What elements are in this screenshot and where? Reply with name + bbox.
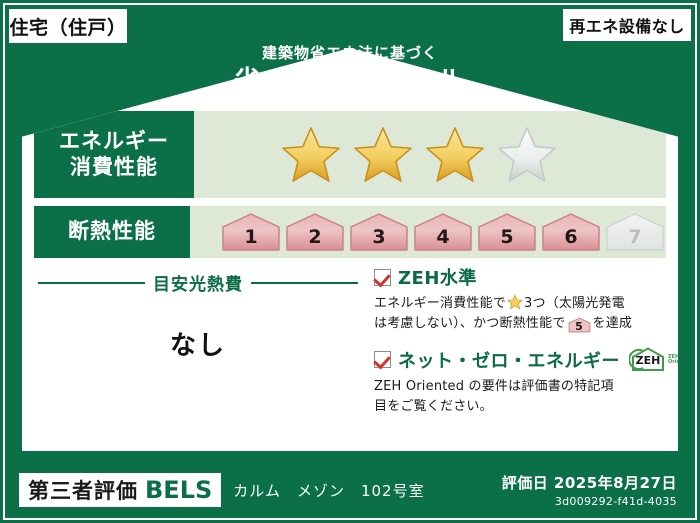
grade-badge-label: 4 — [436, 226, 449, 253]
grade-badge-2: 2 — [284, 211, 346, 253]
grade-badge-1: 1 — [220, 211, 282, 253]
bels-japanese-label: 第三者評価 — [28, 475, 138, 505]
grade-badge-6: 6 — [540, 211, 602, 253]
net-zero-energy-heading: ネット・ゼロ・エネルギー ZEH ZEH Oriented — [374, 346, 662, 373]
estimated-utility-cost-value: なし — [38, 325, 358, 362]
desc-text-1: エネルギー消費性能で — [374, 296, 506, 311]
insulation-performance-row: 断熱性能 1 — [34, 206, 666, 258]
evaluation-id: 3d009292-f41d-4035 — [502, 495, 677, 508]
grade-badge-label: 1 — [244, 226, 257, 253]
building-type-tag: 住宅（住戸） — [9, 9, 127, 43]
energy-label-line1: エネルギー — [59, 129, 169, 155]
energy-label-line2: 消費性能 — [70, 155, 158, 181]
desc-text-4: を達成 — [593, 316, 633, 331]
estimated-utility-cost-heading: 目安光熱費 — [38, 270, 358, 295]
star-icon-filled-3 — [424, 125, 486, 185]
grade-badge-4: 4 — [412, 211, 474, 253]
grade-badge-label: 2 — [308, 226, 321, 253]
zeh-standard-description: エネルギー消費性能で3つ（太陽光発電は考慮しない）、かつ断熱性能で5を達成 — [374, 294, 662, 334]
star-icon-filled-2 — [352, 125, 414, 185]
insulation-grade-scale: 1 2 3 — [190, 211, 666, 253]
grade-badge-label: 7 — [628, 226, 641, 253]
evaluation-info: 評価日 2025年8月27日 3d009292-f41d-4035 — [502, 472, 691, 508]
insulation-performance-body: 1 2 3 — [190, 206, 666, 258]
grade-badge-label: 5 — [500, 226, 513, 253]
certification-block: ZEH水準 エネルギー消費性能で3つ（太陽光発電は考慮しない）、かつ断熱性能で5… — [374, 264, 662, 430]
grade-badge-7: 7 — [604, 211, 666, 253]
svg-text:ZEH: ZEH — [636, 354, 661, 367]
bels-badge: 第三者評価 BELS — [19, 473, 221, 507]
energy-performance-row: エネルギー 消費性能 — [34, 111, 666, 198]
checkbox-checked-icon[interactable] — [374, 269, 391, 286]
grade-badge-label: 3 — [372, 226, 385, 253]
desc-text-3: は考慮しない）、かつ断熱性能で — [374, 316, 566, 331]
grade-badge-inline: 5 — [568, 317, 591, 333]
desc-text-2: 3つ（太陽光発電 — [524, 296, 625, 311]
cost-heading-text: 目安光熱費 — [153, 270, 243, 295]
grade-badge-5: 5 — [476, 211, 538, 253]
property-name: カルム メゾン 102号室 — [233, 480, 424, 501]
star-icon-empty-4 — [496, 125, 558, 185]
rule-right — [251, 282, 358, 284]
zeh-standard-heading: ZEH水準 — [374, 264, 662, 290]
renewable-equipment-tag: 再エネ設備なし — [563, 9, 691, 41]
nze-desc-line2: 目をご覧ください。 — [374, 399, 493, 414]
certification-net-zero-energy: ネット・ゼロ・エネルギー ZEH ZEH Oriented — [374, 346, 662, 417]
estimated-utility-cost-block: 目安光熱費 なし — [38, 270, 358, 362]
certification-zeh-standard: ZEH水準 エネルギー消費性能で3つ（太陽光発電は考慮しない）、かつ断熱性能で5… — [374, 264, 662, 334]
grade-badge-inline-label: 5 — [568, 317, 591, 336]
energy-performance-label: 住宅（住戸） 再エネ設備なし 建築物省エネ法に基づく 省エネ性能ラベル エネルギ… — [0, 0, 700, 523]
star-rating — [194, 125, 558, 185]
net-zero-energy-title: ネット・ゼロ・エネルギー — [398, 347, 620, 373]
footer-bar: 第三者評価 BELS カルム メゾン 102号室 評価日 2025年8月27日 … — [9, 466, 691, 514]
net-zero-energy-description: ZEH Oriented の要件は評価書の特記項 目をご覧ください。 — [374, 377, 662, 417]
evaluation-date: 評価日 2025年8月27日 — [502, 472, 677, 493]
star-icon-filled-1 — [280, 125, 342, 185]
checkbox-checked-icon[interactable] — [374, 351, 391, 368]
energy-performance-body — [194, 111, 666, 198]
bels-logo-text: BELS — [145, 476, 212, 504]
star-icon-inline — [507, 294, 523, 310]
zeh-standard-title: ZEH水準 — [398, 264, 477, 290]
zeh-house-icon: ZEH — [629, 346, 667, 373]
nze-desc-line1: ZEH Oriented の要件は評価書の特記項 — [374, 379, 614, 394]
insulation-label-line1: 断熱性能 — [68, 219, 156, 245]
grade-badge-label: 6 — [564, 226, 577, 253]
rule-left — [38, 282, 145, 284]
grade-badge-3: 3 — [348, 211, 410, 253]
insulation-performance-label-box: 断熱性能 — [34, 206, 190, 258]
